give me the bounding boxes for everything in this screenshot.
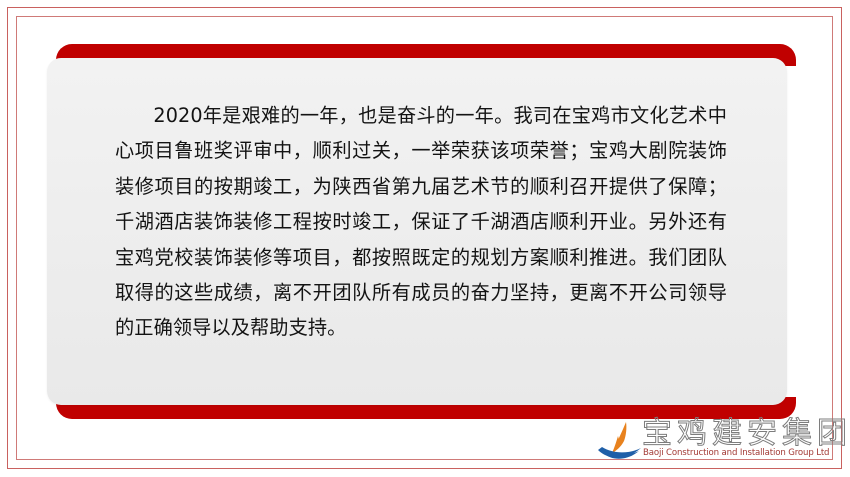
logo-name-cn: 宝鸡建安集团 <box>642 417 850 451</box>
body-paragraph: 2020年是艰难的一年，也是奋斗的一年。我司在宝鸡市文化艺术中心项目鲁班奖评审中… <box>115 98 727 346</box>
logo-text-wrap: 宝鸡建安集团 Baoji Construction and Installati… <box>642 418 844 466</box>
slide-canvas: 2020年是艰难的一年，也是奋斗的一年。我司在宝鸡市文化艺术中心项目鲁班奖评审中… <box>0 0 850 477</box>
logo-name-en: Baoji Construction and Installation Grou… <box>643 448 829 458</box>
baoji-sail-flame-logo-icon <box>596 420 648 462</box>
company-logo: 宝鸡建安集团 Baoji Construction and Installati… <box>596 418 844 466</box>
card-text-block: 2020年是艰难的一年，也是奋斗的一年。我司在宝鸡市文化艺术中心项目鲁班奖评审中… <box>115 98 727 346</box>
content-card: 2020年是艰难的一年，也是奋斗的一年。我司在宝鸡市文化艺术中心项目鲁班奖评审中… <box>47 44 796 419</box>
